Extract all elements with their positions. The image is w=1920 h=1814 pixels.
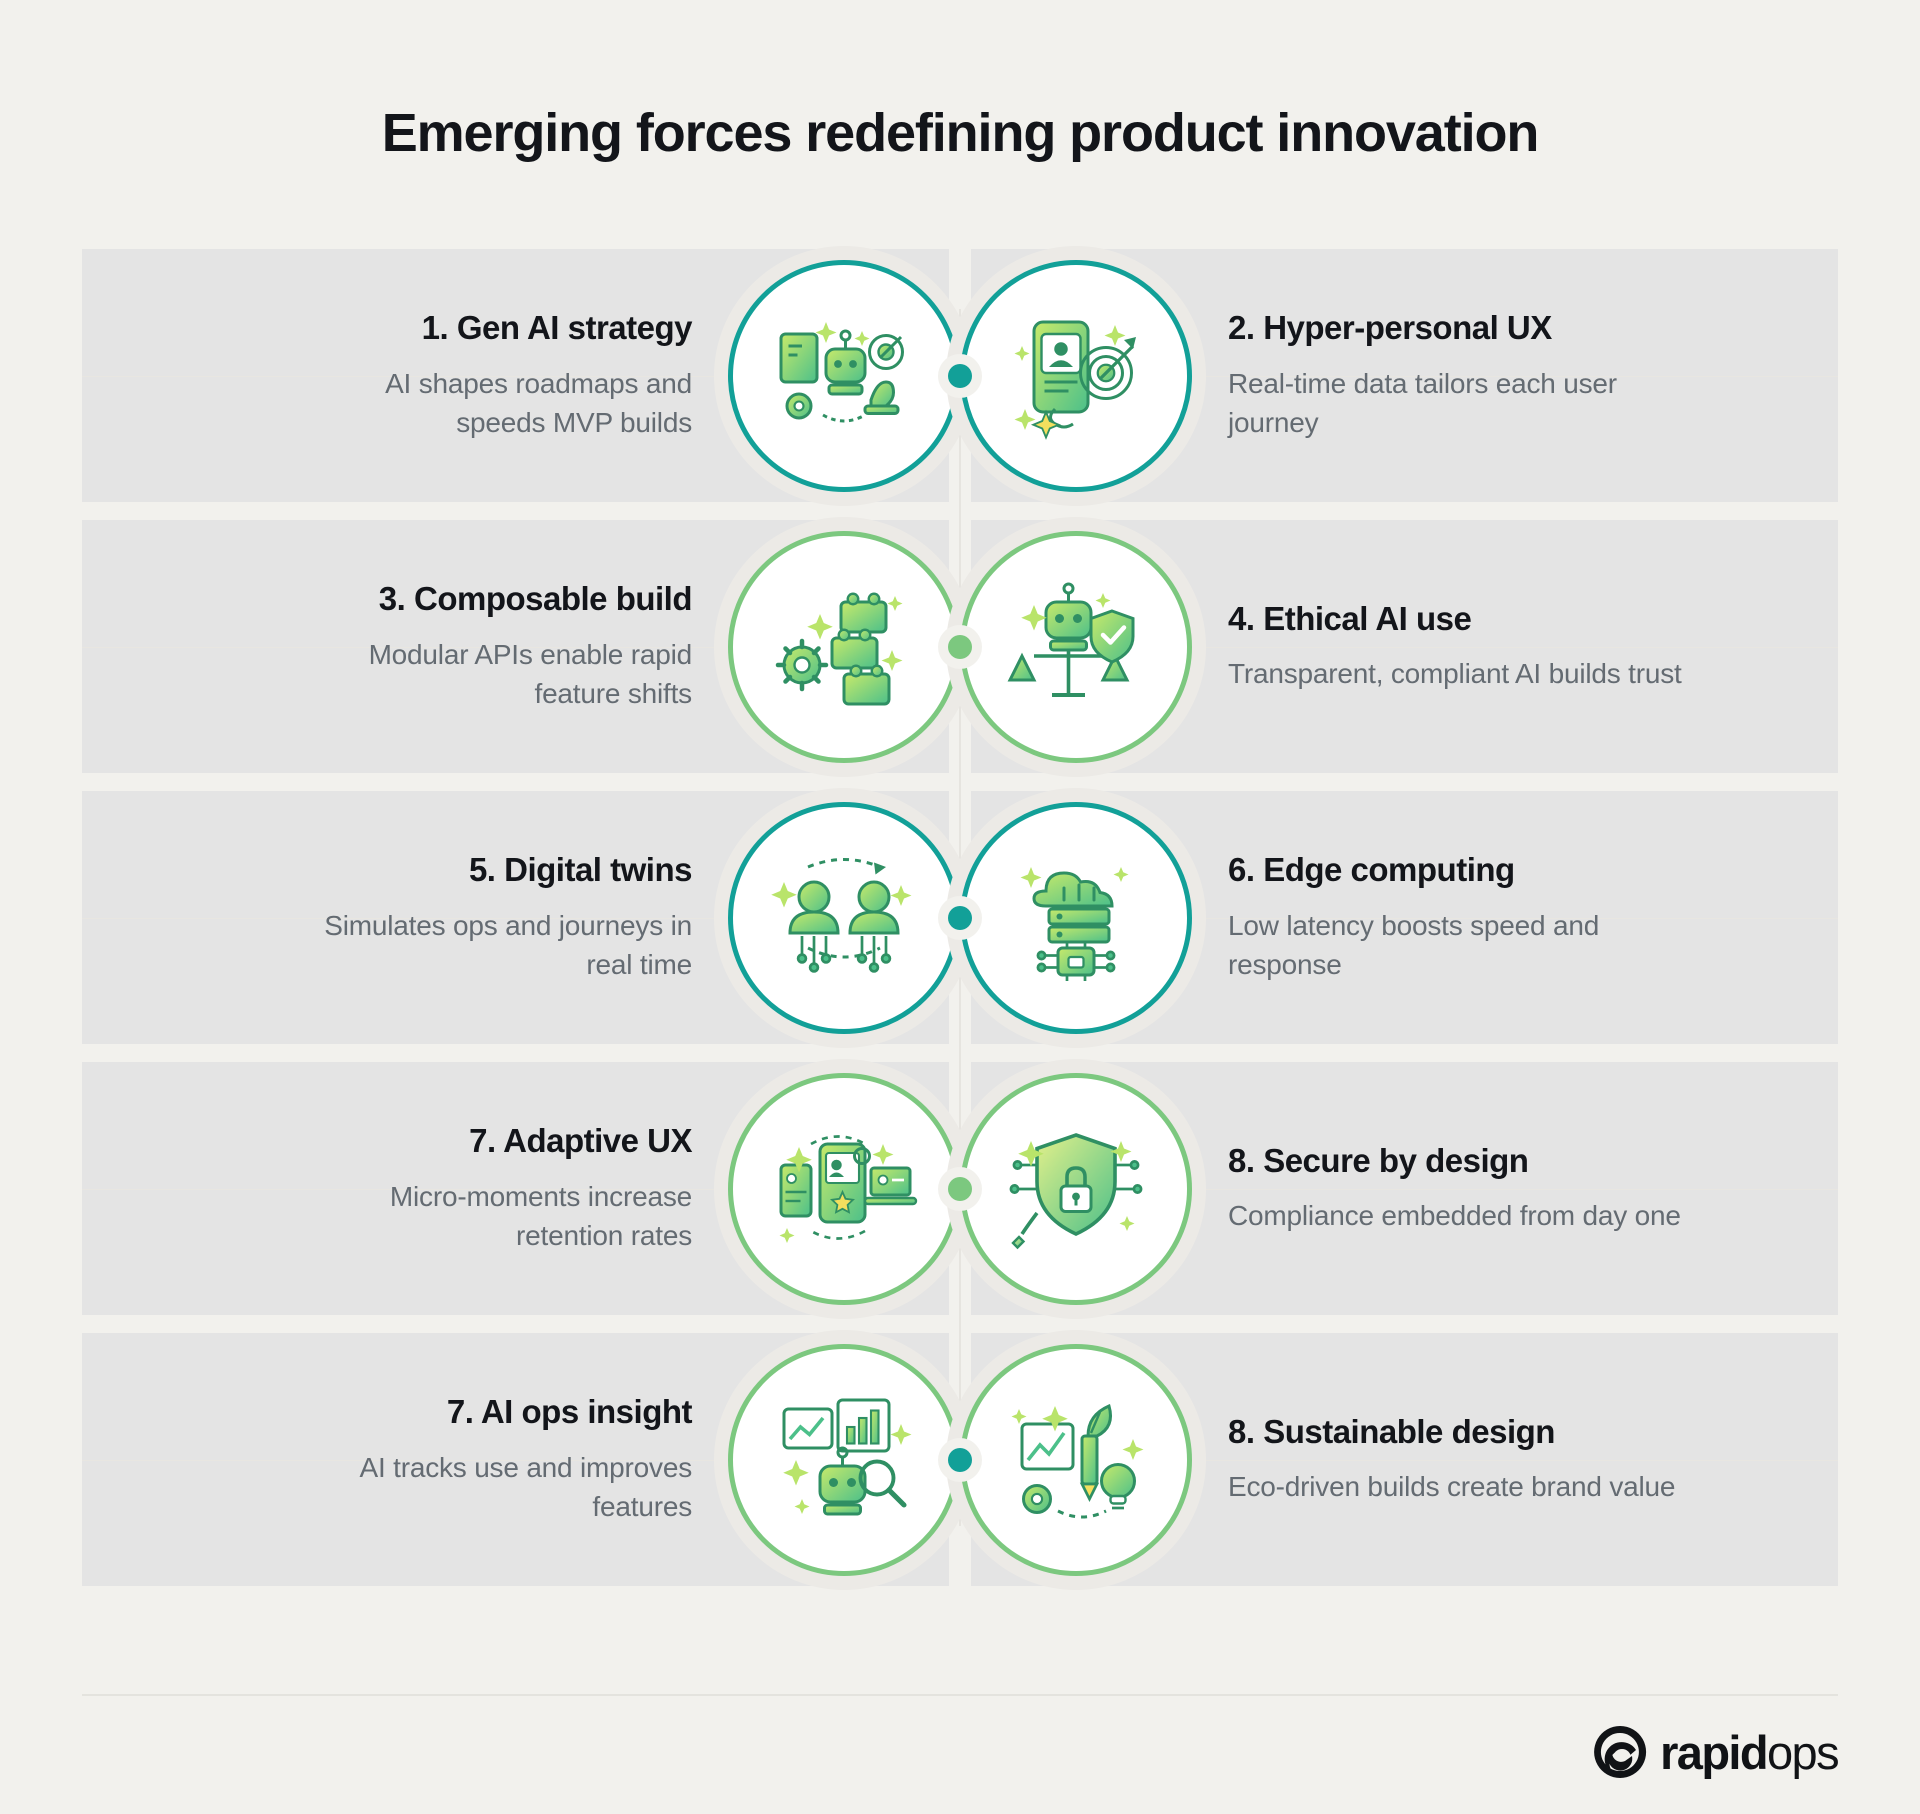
card-description: AI tracks use and improves features: [292, 1448, 692, 1528]
connector-node-2: [938, 625, 982, 669]
card-2[interactable]: 2. Hyper-personal UX Real-time data tail…: [960, 249, 1756, 502]
mobile-profile-target-icon: [1001, 301, 1151, 451]
card-5[interactable]: 5. Digital twins Simulates ops and journ…: [164, 791, 960, 1044]
icon-bubble: [728, 1073, 960, 1305]
robot-scales-shield-icon: [1001, 572, 1151, 722]
footer-divider: [82, 1694, 1838, 1696]
card-8[interactable]: 8. Secure by design Compliance embedded …: [960, 1062, 1756, 1315]
row-2: 3. Composable build Modular APIs enable …: [82, 520, 1838, 773]
icon-bubble: [728, 802, 960, 1034]
card-7[interactable]: 7. Adaptive UX Micro-moments increase re…: [164, 1062, 960, 1315]
rows-container: 1. Gen AI strategy AI shapes roadmaps an…: [0, 249, 1920, 1586]
connector-node-5: [938, 1438, 982, 1482]
icon-bubble: [960, 260, 1192, 492]
logo-wordmark: rapidops: [1660, 1729, 1838, 1776]
card-description: Transparent, compliant AI builds trust: [1228, 654, 1698, 694]
footer: rapidops: [82, 1694, 1838, 1814]
card-title: 3. Composable build: [164, 580, 692, 619]
card-6[interactable]: 6. Edge computing Low latency boosts spe…: [960, 791, 1756, 1044]
card-description: Eco-driven builds create brand value: [1228, 1467, 1698, 1507]
card-description: Real-time data tailors each user journey: [1228, 364, 1698, 444]
rapidops-logo[interactable]: rapidops: [1592, 1724, 1838, 1780]
row-4: 7. Adaptive UX Micro-moments increase re…: [82, 1062, 1838, 1315]
card-title: 7. AI ops insight: [164, 1393, 692, 1432]
logo-bold-text: rapid: [1660, 1726, 1767, 1779]
card-title: 6. Edge computing: [1228, 851, 1756, 890]
card-title: 8. Secure by design: [1228, 1142, 1756, 1181]
multi-device-screens-icon: [769, 1114, 919, 1264]
logo-light-text: ops: [1767, 1726, 1838, 1779]
icon-bubble: [960, 531, 1192, 763]
connector-node-3: [938, 896, 982, 940]
card-1[interactable]: 1. Gen AI strategy AI shapes roadmaps an…: [164, 249, 960, 502]
card-title: 5. Digital twins: [164, 851, 692, 890]
card-9[interactable]: 7. AI ops insight AI tracks use and impr…: [164, 1333, 960, 1586]
card-title: 1. Gen AI strategy: [164, 309, 692, 348]
icon-bubble: [728, 260, 960, 492]
card-title: 4. Ethical AI use: [1228, 600, 1756, 639]
card-description: Compliance embedded from day one: [1228, 1196, 1698, 1236]
building-blocks-gear-icon: [769, 572, 919, 722]
icon-bubble: [960, 802, 1192, 1034]
card-description: Micro-moments increase retention rates: [292, 1177, 692, 1257]
cloud-server-chip-icon: [1001, 843, 1151, 993]
shield-lock-icon: [1001, 1114, 1151, 1264]
row-3: 5. Digital twins Simulates ops and journ…: [82, 791, 1838, 1044]
card-10[interactable]: 8. Sustainable design Eco-driven builds …: [960, 1333, 1756, 1586]
card-title: 7. Adaptive UX: [164, 1122, 692, 1161]
card-title: 2. Hyper-personal UX: [1228, 309, 1756, 348]
card-description: AI shapes roadmaps and speeds MVP builds: [292, 364, 692, 444]
card-description: Modular APIs enable rapid feature shifts: [292, 635, 692, 715]
icon-bubble: [960, 1073, 1192, 1305]
twin-avatars-icon: [769, 843, 919, 993]
eco-leaf-pencil-bulb-icon: [1001, 1385, 1151, 1535]
icon-bubble: [728, 1344, 960, 1576]
spiral-swirl-icon: [1592, 1724, 1648, 1780]
icon-bubble: [960, 1344, 1192, 1576]
card-4[interactable]: 4. Ethical AI use Transparent, compliant…: [960, 520, 1756, 773]
card-3[interactable]: 3. Composable build Modular APIs enable …: [164, 520, 960, 773]
card-title: 8. Sustainable design: [1228, 1413, 1756, 1452]
row-5: 7. AI ops insight AI tracks use and impr…: [82, 1333, 1838, 1586]
robot-analytics-magnifier-icon: [769, 1385, 919, 1535]
robot-roadmap-strategy-icon: [769, 301, 919, 451]
card-description: Low latency boosts speed and response: [1228, 906, 1698, 986]
icon-bubble: [728, 531, 960, 763]
row-1: 1. Gen AI strategy AI shapes roadmaps an…: [82, 249, 1838, 502]
card-description: Simulates ops and journeys in real time: [292, 906, 692, 986]
connector-node-1: [938, 354, 982, 398]
page-title: Emerging forces redefining product innov…: [0, 0, 1920, 163]
connector-node-4: [938, 1167, 982, 1211]
